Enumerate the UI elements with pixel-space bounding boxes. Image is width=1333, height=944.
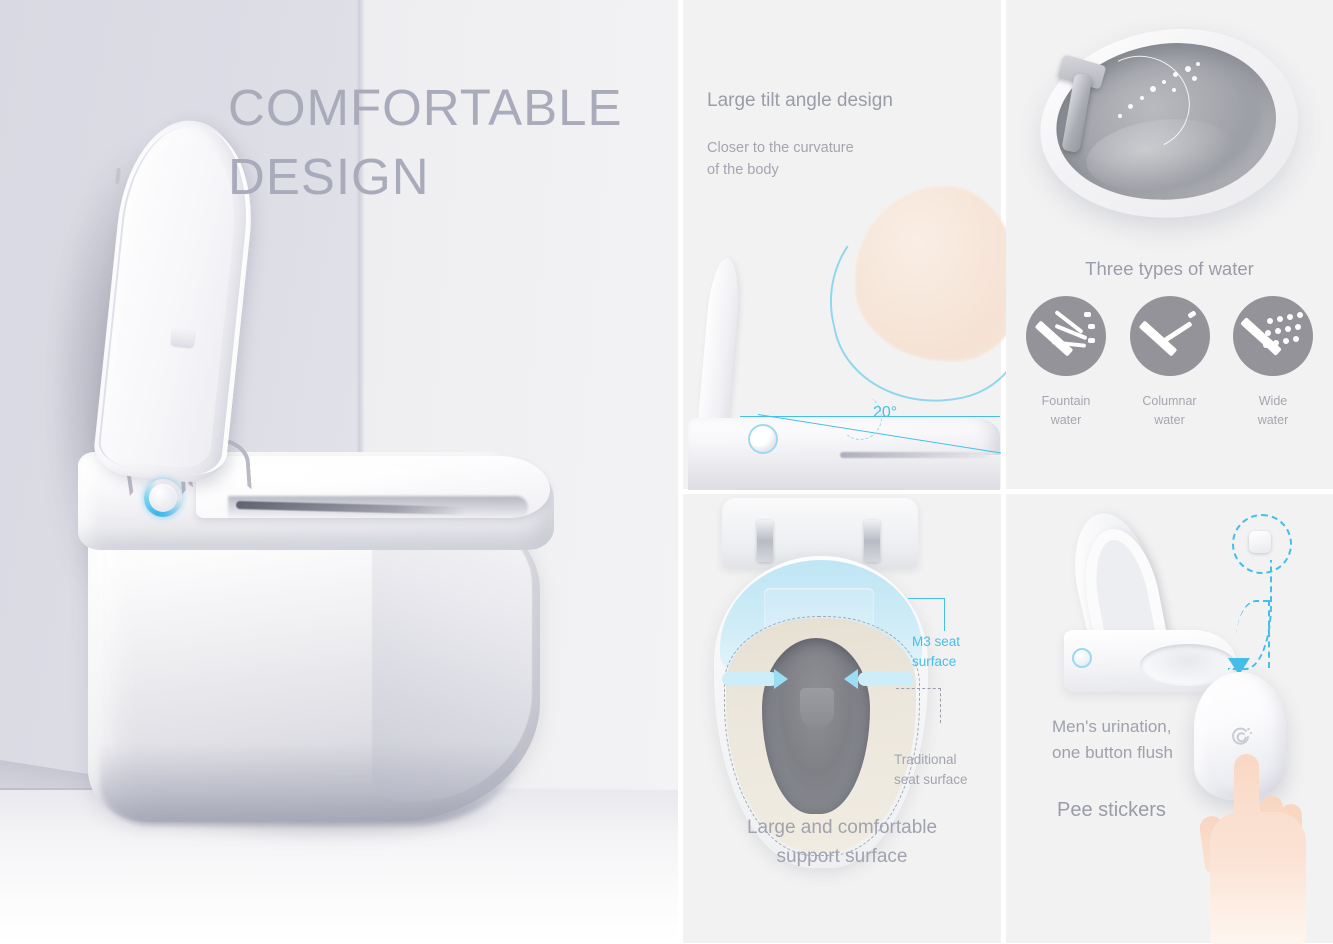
palm — [1210, 812, 1306, 944]
tilt-toilet-base — [688, 455, 1000, 490]
water-droplet — [1162, 80, 1166, 84]
hero-panel: COMFORTABLE DESIGN — [0, 0, 678, 943]
water-droplet — [1173, 72, 1178, 77]
water-type-item[interactable]: Wide water — [1225, 296, 1321, 431]
water-droplet — [1140, 96, 1144, 100]
water-droplet — [1172, 88, 1176, 92]
tilt-seat-shadow — [840, 452, 990, 458]
tilt-subtitle: Closer to the curvature of the body — [707, 138, 854, 182]
tilt-angle-label: 20° — [873, 404, 897, 422]
width-arrow-left — [774, 669, 788, 689]
water-type-item[interactable]: Columnar water — [1122, 296, 1218, 431]
water-types-title: Three types of water — [1006, 258, 1333, 280]
m3-seat-label: M3 seat surface — [912, 632, 960, 671]
remote-button-highlight — [1249, 531, 1271, 553]
tilt-title: Large tilt angle design — [707, 90, 893, 112]
fountain-water-icon — [1026, 296, 1106, 376]
water-type-label: Fountain water — [1018, 392, 1114, 431]
water-type-label: Wide water — [1225, 392, 1321, 431]
water-droplet — [1192, 76, 1197, 81]
seat-hinge-clip-left — [757, 520, 773, 562]
width-indicator-left — [722, 672, 778, 686]
bowl-flap-valve — [800, 688, 834, 728]
water-types-row: Fountain water Columnar water — [1018, 296, 1321, 431]
flush-swirl-icon — [1225, 722, 1255, 752]
m3-leader-line — [908, 598, 945, 631]
water-type-label: Columnar water — [1122, 392, 1218, 431]
control-knob-face — [149, 484, 177, 512]
page-title: COMFORTABLE DESIGN — [228, 74, 668, 212]
columnar-water-icon — [1130, 296, 1210, 376]
width-arrow-right — [844, 669, 858, 689]
traditional-seat-label: Traditional seat surface — [894, 750, 968, 789]
water-droplet — [1185, 66, 1191, 72]
traditional-leader-line — [896, 688, 941, 723]
pee-control-knob — [1072, 648, 1092, 668]
water-type-item[interactable]: Fountain water — [1018, 296, 1114, 431]
water-droplet — [1150, 86, 1156, 92]
pointing-hand-icon — [1198, 754, 1316, 943]
water-droplet — [1196, 62, 1200, 66]
pee-stickers-title: Pee stickers — [1057, 799, 1166, 822]
wide-water-icon — [1233, 296, 1313, 376]
water-droplet — [1118, 114, 1122, 118]
toilet-base-shading — [100, 745, 520, 825]
toilet-lid-notch — [171, 329, 195, 347]
water-droplet — [1128, 104, 1133, 109]
tilt-control-knob — [748, 424, 778, 454]
seat-hinge-clip-right — [864, 520, 880, 562]
seat-caption: Large and comfortable support surface — [683, 814, 1001, 871]
width-indicator-right — [858, 672, 914, 686]
pee-description: Men's urination, one button flush — [1052, 714, 1173, 765]
product-feature-page: COMFORTABLE DESIGN Large tilt angle desi… — [0, 0, 1333, 943]
